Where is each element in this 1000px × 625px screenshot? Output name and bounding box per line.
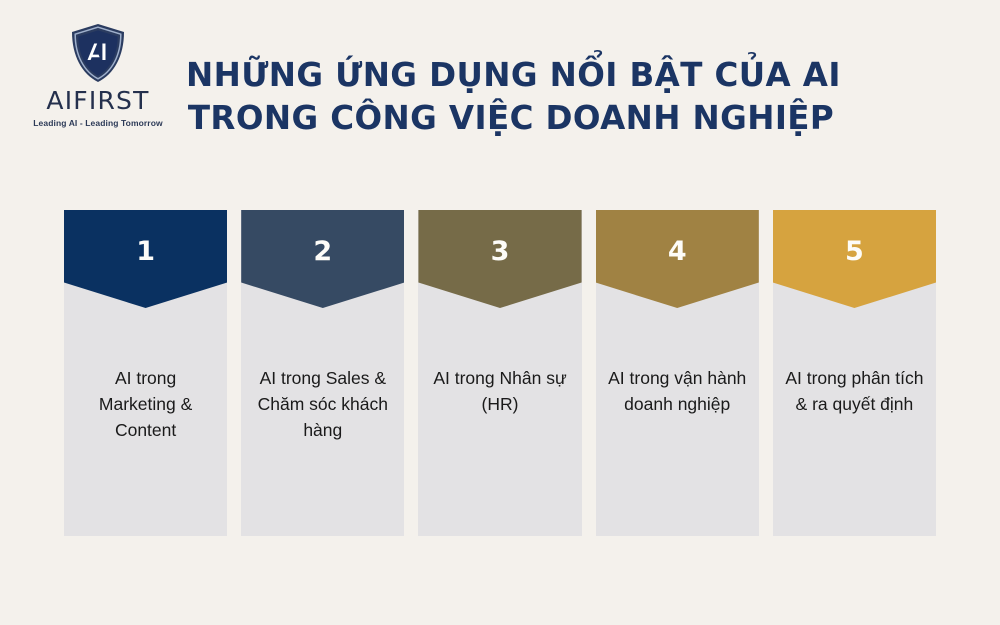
card-3-label: AI trong Nhân sự (HR) <box>430 366 569 418</box>
card-2[interactable]: 2 AI trong Sales & Chăm sóc khách hàng <box>241 210 404 536</box>
card-3[interactable]: 3 AI trong Nhân sự (HR) <box>418 210 581 536</box>
card-3-header: 3 <box>418 210 581 308</box>
card-4-body: AI trong vận hành doanh nghiệp <box>596 308 759 536</box>
shield-ai-monogram-icon <box>69 22 127 84</box>
card-5-number: 5 <box>773 238 936 265</box>
page-title-line-1: NHỮNG ỨNG DỤNG NỔI BẬT CỦA AI <box>186 54 836 97</box>
card-4-label: AI trong vận hành doanh nghiệp <box>608 366 747 418</box>
card-5-label: AI trong phân tích & ra quyết định <box>785 366 924 418</box>
brand-logo-block: AIFIRST Leading AI - Leading Tomorrow <box>22 22 174 138</box>
card-5-header: 5 <box>773 210 936 308</box>
card-1-label: AI trong Marketing & Content <box>76 366 215 444</box>
card-2-body: AI trong Sales & Chăm sóc khách hàng <box>241 308 404 536</box>
cards-row: 1 AI trong Marketing & Content 2 AI tron… <box>64 210 936 536</box>
card-3-body: AI trong Nhân sự (HR) <box>418 308 581 536</box>
card-1-number: 1 <box>64 238 227 265</box>
page-title-line-2: TRONG CÔNG VIỆC DOANH NGHIỆP <box>186 97 836 140</box>
card-1-header: 1 <box>64 210 227 308</box>
card-4[interactable]: 4 AI trong vận hành doanh nghiệp <box>596 210 759 536</box>
card-5-body: AI trong phân tích & ra quyết định <box>773 308 936 536</box>
card-2-header: 2 <box>241 210 404 308</box>
card-1[interactable]: 1 AI trong Marketing & Content <box>64 210 227 536</box>
card-2-number: 2 <box>241 238 404 265</box>
card-3-number: 3 <box>418 238 581 265</box>
card-4-header: 4 <box>596 210 759 308</box>
logo-wordmark: AIFIRST <box>46 88 149 113</box>
page-title: NHỮNG ỨNG DỤNG NỔI BẬT CỦA AI TRONG CÔNG… <box>186 54 836 140</box>
card-4-number: 4 <box>596 238 759 265</box>
logo-tagline: Leading AI - Leading Tomorrow <box>33 119 162 128</box>
card-1-body: AI trong Marketing & Content <box>64 308 227 536</box>
card-5[interactable]: 5 AI trong phân tích & ra quyết định <box>773 210 936 536</box>
card-2-label: AI trong Sales & Chăm sóc khách hàng <box>253 366 392 444</box>
